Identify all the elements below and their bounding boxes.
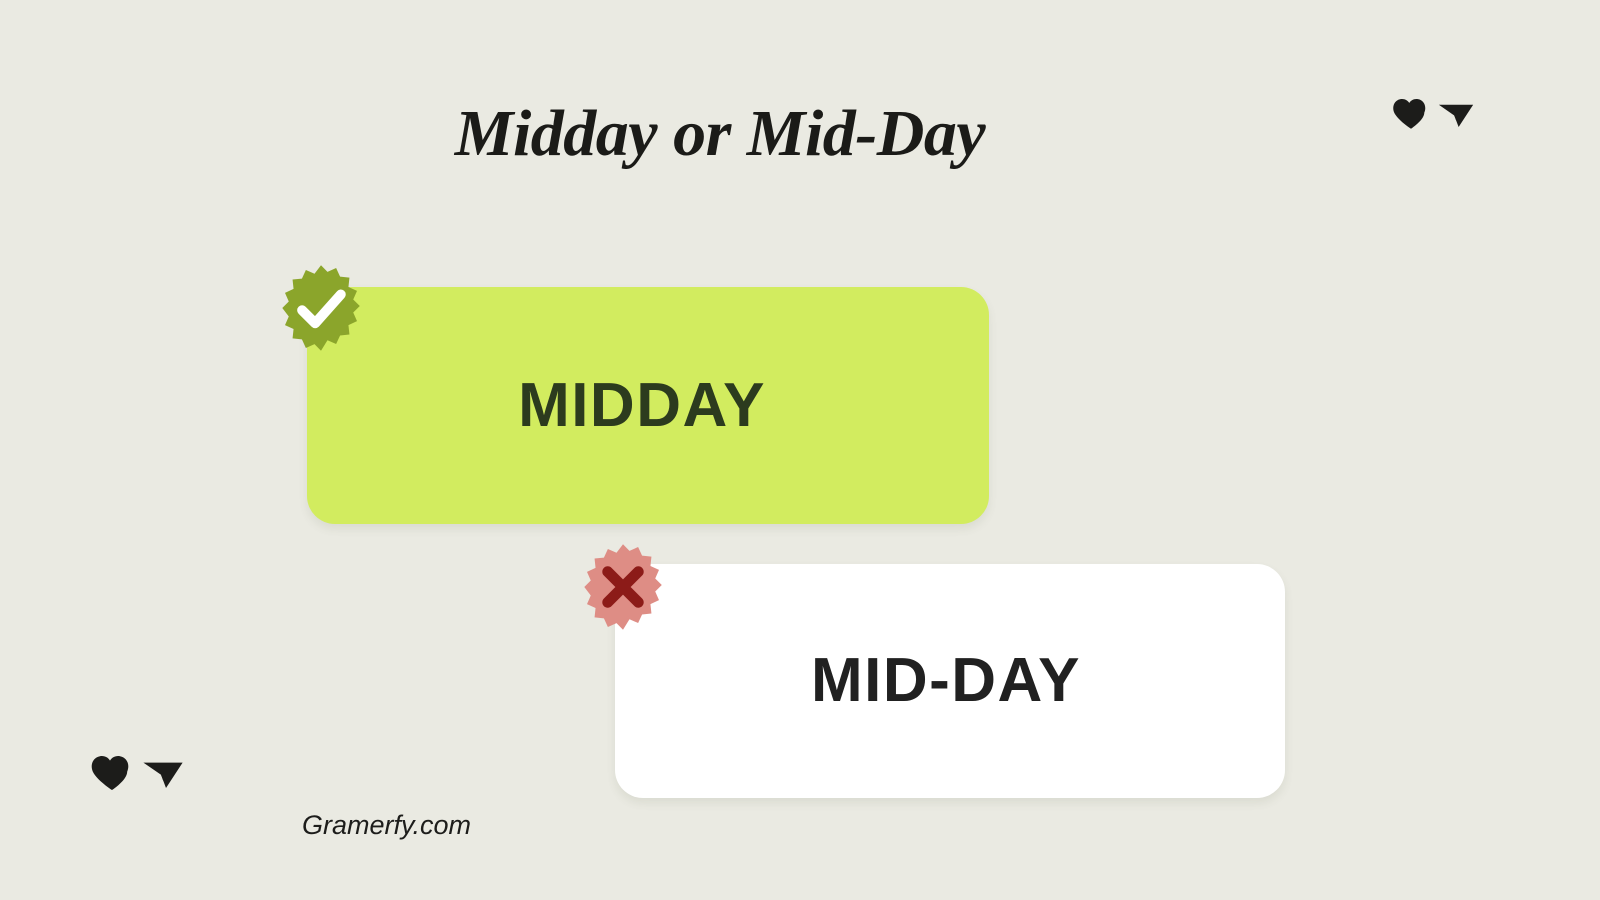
send-icon[interactable]: [1434, 92, 1478, 134]
page-title: Midday or Mid-Day: [0, 96, 1440, 172]
slide-canvas: Midday or Mid-Day MIDDAY MID-DAY: [0, 0, 1600, 900]
watermark: Gramerfy.com: [302, 810, 471, 841]
incorrect-word-label: MID-DAY: [811, 650, 1081, 712]
starburst-shape: [282, 265, 359, 351]
heart-icon[interactable]: [88, 748, 136, 796]
social-icons-top-right: [1390, 92, 1478, 134]
send-icon[interactable]: [138, 748, 188, 796]
heart-icon[interactable]: [1390, 92, 1432, 134]
cross-badge: [578, 542, 668, 632]
incorrect-word-card[interactable]: MID-DAY: [615, 564, 1285, 798]
check-badge: [276, 263, 366, 353]
correct-word-card[interactable]: MIDDAY: [307, 287, 989, 524]
correct-word-label: MIDDAY: [518, 375, 766, 437]
social-icons-bottom-left: [88, 748, 188, 796]
